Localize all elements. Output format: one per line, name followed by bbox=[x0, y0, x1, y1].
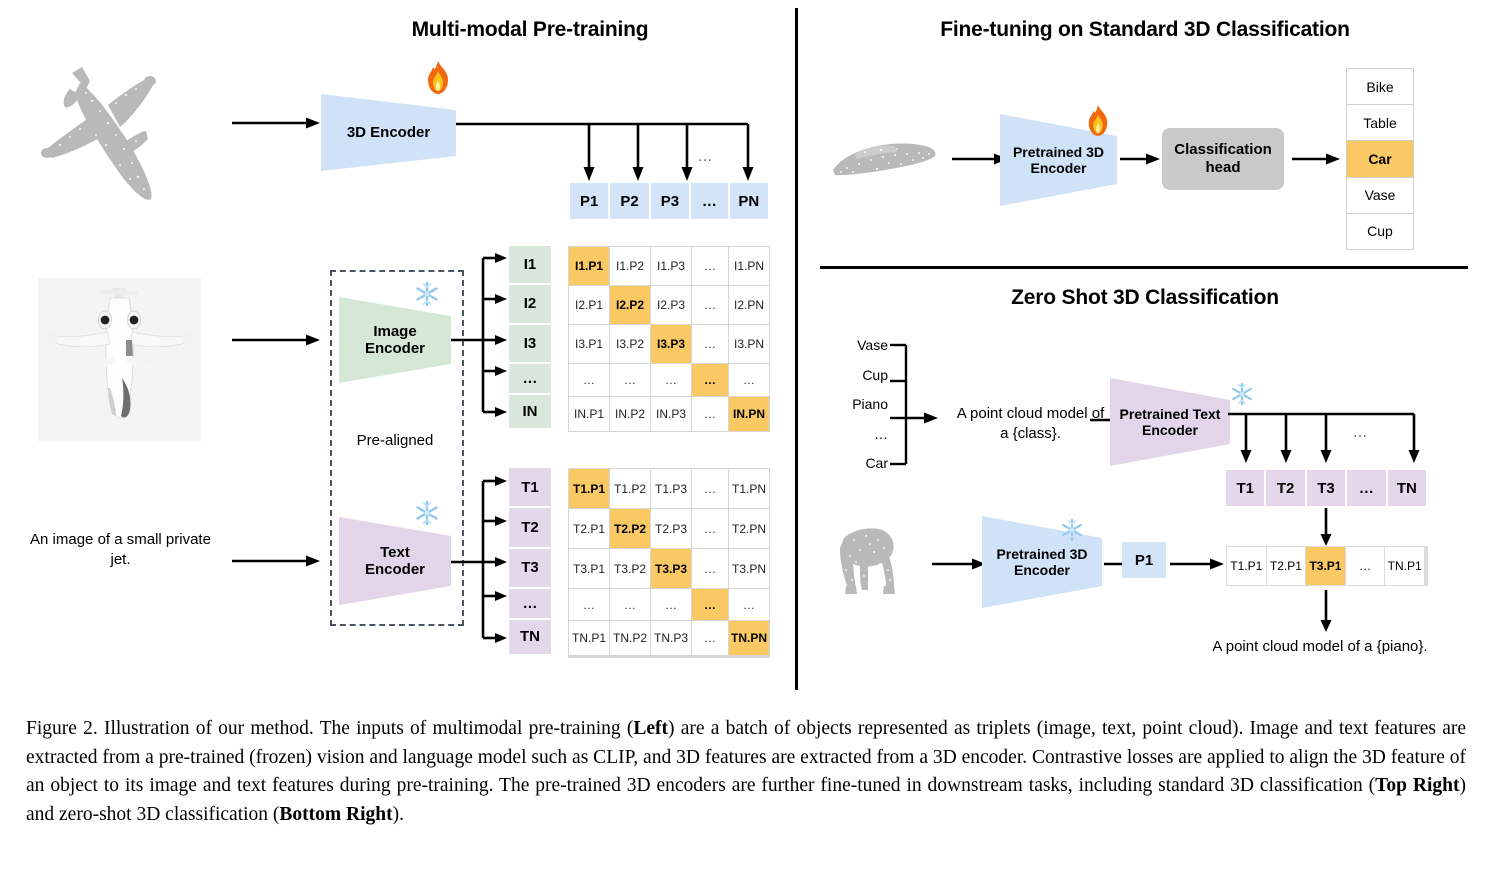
top-right-panel-title: Fine-tuning on Standard 3D Classificatio… bbox=[830, 18, 1460, 42]
branch-ellipsis-top: … bbox=[690, 148, 720, 167]
encoder-3d-block[interactable]: 3D Encoder bbox=[321, 90, 456, 175]
t-token: T1 bbox=[509, 468, 551, 508]
zeroshot-class-list: VaseCupPiano…Car bbox=[826, 338, 888, 470]
matrix-cell: TN.P1 bbox=[569, 621, 609, 655]
t-token: T1 bbox=[1226, 470, 1266, 506]
matrix-cell: … bbox=[692, 286, 728, 324]
classification-head-block[interactable]: Classification head bbox=[1162, 128, 1284, 190]
matrix-cell: T1.P2 bbox=[610, 469, 650, 508]
matrix-cell: I3.P1 bbox=[569, 325, 609, 363]
matrix-cell: IN.P2 bbox=[610, 397, 650, 431]
p-token-strip: P1 P2 P3 … PN bbox=[570, 183, 768, 219]
matrix-cell: T1.PN bbox=[729, 469, 769, 508]
i-token: IN bbox=[509, 395, 551, 428]
branch-ellipsis-zeroshot: … bbox=[1345, 424, 1375, 443]
pointcloud-airplane-image bbox=[20, 45, 210, 235]
p1-token: P1 bbox=[1122, 542, 1166, 578]
zeroshot-class-item: Piano bbox=[852, 397, 888, 411]
score-cell: TN.P1 bbox=[1385, 547, 1424, 585]
figure-canvas: Multi-modal Pre-training bbox=[0, 0, 1490, 888]
i-token: I1 bbox=[509, 246, 551, 285]
image-point-similarity-matrix: I1.P1I1.P2I1.P3…I1.PNI2.P1I2.P2I2.P3…I2.… bbox=[568, 246, 770, 432]
matrix-cell: T2.PN bbox=[729, 509, 769, 548]
matrix-cell: … bbox=[729, 589, 769, 620]
t-token: TN bbox=[509, 620, 551, 654]
matrix-cell: I2.P3 bbox=[651, 286, 691, 324]
matrix-cell: TN.P2 bbox=[610, 621, 650, 655]
matrix-cell: I2.P2 bbox=[610, 286, 650, 324]
matrix-cell: IN.P3 bbox=[651, 397, 691, 431]
matrix-cell: T3.PN bbox=[729, 549, 769, 588]
zeroshot-class-item: Vase bbox=[857, 338, 888, 352]
arrow-pointcloud-to-3d-encoder bbox=[232, 115, 322, 131]
matrix-cell: T2.P3 bbox=[651, 509, 691, 548]
matrix-cell: T3.P3 bbox=[651, 549, 691, 588]
p-token: P3 bbox=[651, 183, 691, 219]
matrix-cell: T2.P2 bbox=[610, 509, 650, 548]
branch-text-encoder-to-t-tokens bbox=[451, 472, 511, 647]
i-token: I2 bbox=[509, 285, 551, 324]
snowflake-icon bbox=[414, 500, 440, 526]
horizontal-divider bbox=[820, 266, 1468, 269]
matrix-cell: I1.P2 bbox=[610, 247, 650, 285]
matrix-cell: … bbox=[729, 364, 769, 396]
matrix-cell: … bbox=[651, 589, 691, 620]
matrix-cell: I2.PN bbox=[729, 286, 769, 324]
zeroshot-p1-token: P1 bbox=[1122, 542, 1166, 578]
t-token: T3 bbox=[1307, 470, 1347, 506]
t-token: T3 bbox=[509, 549, 551, 589]
arrow-t3-to-scorerow bbox=[1318, 508, 1334, 548]
arrow-head-to-classlist bbox=[1292, 151, 1342, 167]
zeroshot-class-item: Cup bbox=[862, 368, 888, 382]
matrix-cell: I1.P1 bbox=[569, 247, 609, 285]
class-list-item[interactable]: Cup bbox=[1347, 214, 1413, 249]
zeroshot-class-item: Car bbox=[865, 456, 888, 470]
matrix-cell: … bbox=[692, 364, 728, 396]
left-panel-title: Multi-modal Pre-training bbox=[250, 18, 810, 42]
matrix-cell: … bbox=[692, 589, 728, 620]
pretrained-text-encoder-block[interactable]: Pretrained Text Encoder bbox=[1110, 374, 1230, 470]
class-list-item[interactable]: Table bbox=[1347, 105, 1413, 141]
matrix-cell: TN.PN bbox=[729, 621, 769, 655]
branch-image-encoder-to-i-tokens bbox=[451, 250, 511, 420]
matrix-cell: I3.P2 bbox=[610, 325, 650, 363]
bottom-right-panel-title: Zero Shot 3D Classification bbox=[830, 286, 1460, 310]
arrow-scorerow-to-result bbox=[1318, 590, 1334, 634]
t-token: … bbox=[509, 589, 551, 620]
matrix-cell: … bbox=[692, 397, 728, 431]
matrix-cell: I3.P3 bbox=[651, 325, 691, 363]
pretrained-text-encoder-label: Pretrained Text Encoder bbox=[1120, 406, 1221, 438]
matrix-cell: IN.P1 bbox=[569, 397, 609, 431]
text-encoder-block[interactable]: Text Encoder bbox=[339, 513, 451, 609]
rendered-jet-image bbox=[38, 278, 201, 441]
i-token: I3 bbox=[509, 325, 551, 364]
matrix-cell: T2.P1 bbox=[569, 509, 609, 548]
matrix-cell: TN.P3 bbox=[651, 621, 691, 655]
arrow-encoder-to-head bbox=[1120, 151, 1162, 167]
pre-aligned-label: Pre-aligned bbox=[330, 432, 460, 451]
arrow-text-to-text-encoder bbox=[232, 553, 322, 569]
pointcloud-car-image bbox=[825, 130, 945, 190]
p-token: PN bbox=[730, 183, 768, 219]
score-cell: T2.P1 bbox=[1267, 547, 1306, 585]
fire-icon bbox=[1084, 104, 1112, 138]
text-encoder-label: Text Encoder bbox=[365, 544, 425, 579]
score-cell: … bbox=[1346, 547, 1385, 585]
zeroshot-result-text: A point cloud model of a {piano}. bbox=[1180, 638, 1460, 657]
p-token: … bbox=[691, 183, 729, 219]
matrix-cell: IN.PN bbox=[729, 397, 769, 431]
matrix-cell: … bbox=[569, 589, 609, 620]
classification-class-list[interactable]: BikeTableCarVaseCup bbox=[1346, 68, 1414, 250]
p-token: P1 bbox=[570, 183, 610, 219]
snowflake-icon bbox=[414, 281, 440, 307]
fire-icon bbox=[423, 60, 453, 96]
score-cell: T1.P1 bbox=[1227, 547, 1266, 585]
matrix-cell: I1.PN bbox=[729, 247, 769, 285]
matrix-cell: … bbox=[610, 589, 650, 620]
p-token: P2 bbox=[610, 183, 650, 219]
class-list-item[interactable]: Vase bbox=[1347, 178, 1413, 214]
class-list-item[interactable]: Bike bbox=[1347, 69, 1413, 105]
snowflake-icon bbox=[1230, 382, 1254, 406]
t-token: … bbox=[1347, 470, 1387, 506]
matrix-cell: … bbox=[692, 621, 728, 655]
arrow-image-to-image-encoder bbox=[232, 332, 322, 348]
matrix-cell: … bbox=[569, 364, 609, 396]
matrix-cell: … bbox=[692, 247, 728, 285]
image-encoder-label: Image Encoder bbox=[365, 323, 425, 358]
matrix-cell: … bbox=[692, 549, 728, 588]
encoder-3d-label: 3D Encoder bbox=[347, 124, 430, 141]
t-token: TN bbox=[1388, 470, 1426, 506]
pretrained-3d-encoder-block-zeroshot[interactable]: Pretrained 3D Encoder bbox=[982, 512, 1102, 612]
t-token: T2 bbox=[1266, 470, 1306, 506]
snowflake-icon bbox=[1060, 518, 1084, 542]
matrix-cell: T3.P2 bbox=[610, 549, 650, 588]
branch-3d-to-p-tokens bbox=[456, 118, 772, 188]
matrix-cell: T3.P1 bbox=[569, 549, 609, 588]
branch-text-encoder-to-t-strip bbox=[1228, 408, 1424, 470]
i-token-column: I1 I2 I3 … IN bbox=[509, 246, 551, 428]
text-input-caption: An image of a small private jet. bbox=[28, 530, 213, 571]
matrix-cell: I1.P3 bbox=[651, 247, 691, 285]
zeroshot-class-item: … bbox=[874, 427, 888, 441]
matrix-cell: … bbox=[692, 325, 728, 363]
matrix-cell: T1.P3 bbox=[651, 469, 691, 508]
matrix-cell: … bbox=[610, 364, 650, 396]
pretrained-3d-encoder-label-zeroshot: Pretrained 3D Encoder bbox=[996, 546, 1087, 578]
matrix-cell: T1.P1 bbox=[569, 469, 609, 508]
t-token-column: T1 T2 T3 … TN bbox=[509, 468, 551, 654]
matrix-cell: … bbox=[651, 364, 691, 396]
matrix-cell: … bbox=[692, 509, 728, 548]
image-encoder-block[interactable]: Image Encoder bbox=[339, 293, 451, 387]
class-list-item[interactable]: Car bbox=[1347, 141, 1413, 177]
zeroshot-t-token-strip: T1 T2 T3 … TN bbox=[1226, 470, 1426, 506]
score-cell: T3.P1 bbox=[1306, 547, 1345, 585]
pointcloud-piano-image bbox=[826, 518, 926, 608]
t-token: T2 bbox=[509, 508, 551, 548]
vertical-divider bbox=[795, 8, 798, 690]
matrix-cell: I3.PN bbox=[729, 325, 769, 363]
matrix-cell: … bbox=[692, 469, 728, 508]
classification-head-label: Classification head bbox=[1174, 141, 1272, 177]
arrow-piano-to-encoder bbox=[932, 556, 988, 572]
matrix-cell: I2.P1 bbox=[569, 286, 609, 324]
text-point-similarity-matrix: T1.P1T1.P2T1.P3…T1.PNT2.P1T2.P2T2.P3…T2.… bbox=[568, 468, 770, 658]
arrow-p1-to-scorerow bbox=[1170, 556, 1226, 572]
pretrained-3d-encoder-label: Pretrained 3D Encoder bbox=[1013, 144, 1104, 176]
figure-caption: Figure 2. Illustration of our method. Th… bbox=[26, 715, 1466, 830]
i-token: … bbox=[509, 364, 551, 396]
zeroshot-score-row: T1.P1T2.P1T3.P1…TN.P1 bbox=[1226, 546, 1428, 586]
